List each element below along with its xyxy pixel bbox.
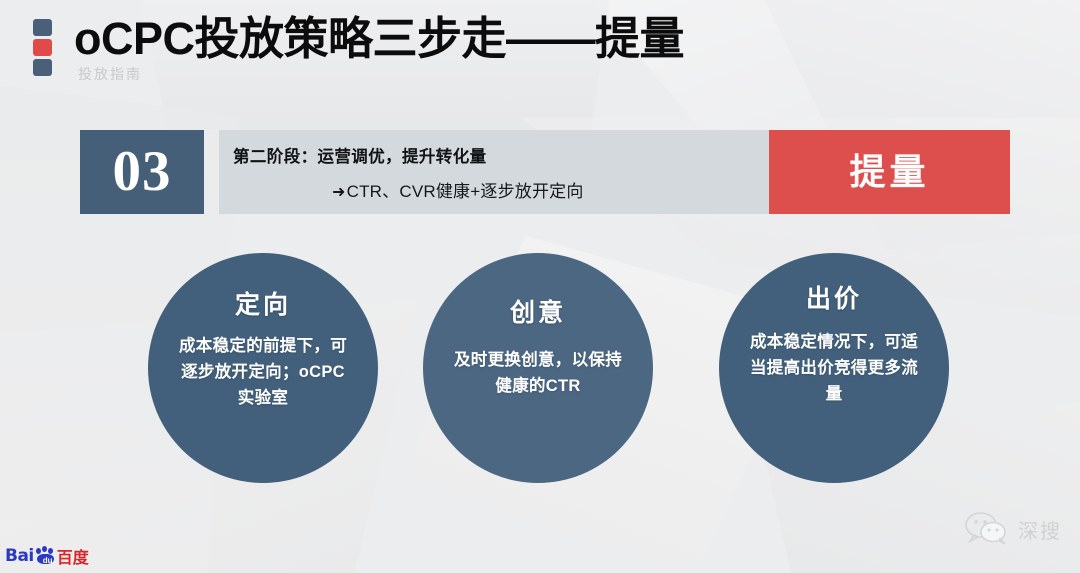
slide-canvas: oCPC投放策略三步走——提量 投放指南 03 第二阶段：运营调优，提升转化量 …	[0, 0, 1080, 573]
step-badge-highlight: 提量	[769, 130, 1010, 214]
baidu-logo-cn-text: 百度	[57, 544, 89, 568]
step-detail-text: CTR、CVR健康+逐步放开定向	[347, 182, 584, 201]
baidu-logo-du-text: du	[43, 556, 53, 565]
circle-heading: 创意	[423, 293, 653, 329]
baidu-logo: Bai du 百度	[5, 545, 89, 567]
circle-card-creative: 创意 及时更换创意，以保持健康的CTR	[423, 253, 653, 483]
circle-heading: 出价	[719, 279, 949, 315]
page-title: oCPC投放策略三步走——提量	[74, 13, 684, 65]
paw-icon: du	[35, 547, 55, 565]
circle-card-bidding: 出价 成本稳定情况下，可适当提高出价竞得更多流量	[719, 253, 949, 483]
circle-body: 及时更换创意，以保持健康的CTR	[423, 347, 653, 399]
wechat-watermark: 深搜	[964, 512, 1062, 546]
title-bullet-marks	[33, 19, 53, 79]
step-headline: 第二阶段：运营调优，提升转化量	[233, 143, 487, 167]
step-number-badge: 03	[80, 130, 204, 214]
wechat-account-name: 深搜	[1018, 515, 1062, 544]
page-subtitle: 投放指南	[78, 64, 142, 84]
baidu-logo-bai-text: Bai	[5, 546, 34, 566]
circle-body: 成本稳定情况下，可适当提高出价竞得更多流量	[719, 329, 949, 407]
arrow-icon: ➜	[332, 184, 346, 201]
step-badge-label: 提量	[769, 130, 1010, 214]
circle-heading: 定向	[148, 285, 378, 321]
wechat-icon	[964, 512, 1010, 546]
bullet-square-1	[33, 19, 52, 36]
bullet-square-2	[33, 39, 52, 56]
bullet-square-3	[33, 59, 52, 76]
circle-body: 成本稳定的前提下，可逐步放开定向；oCPC实验室	[148, 333, 378, 411]
circle-card-targeting: 定向 成本稳定的前提下，可逐步放开定向；oCPC实验室	[148, 253, 378, 483]
step-description-box: 第二阶段：运营调优，提升转化量 ➜CTR、CVR健康+逐步放开定向	[219, 130, 769, 214]
step-detail-line: ➜CTR、CVR健康+逐步放开定向	[332, 177, 584, 202]
